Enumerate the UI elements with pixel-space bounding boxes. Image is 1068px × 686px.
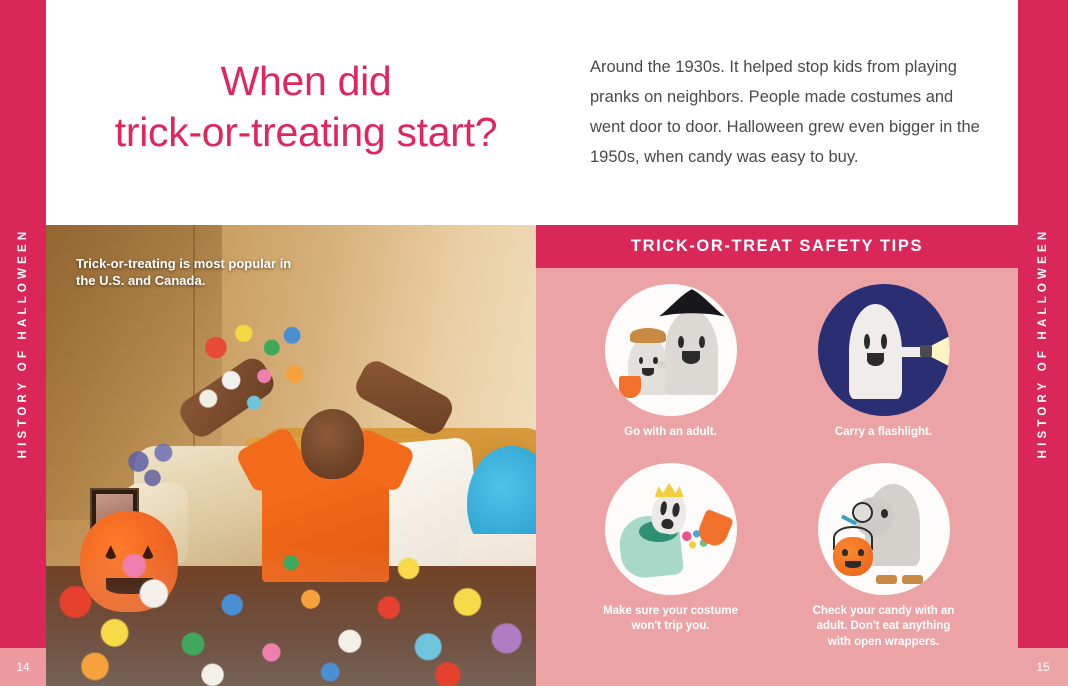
flashlight-beam xyxy=(930,332,950,372)
intro-body-text: Around the 1930s. It helped stop kids fr… xyxy=(590,52,984,172)
safety-tip-label: Check your candy with an adult. Don't ea… xyxy=(809,604,959,650)
costume-ghost-right-eye xyxy=(671,502,680,517)
ghost-mouth xyxy=(867,353,884,365)
safety-tip: Carry a flashlight. xyxy=(777,284,990,463)
ghost-left-shoe xyxy=(876,575,897,584)
photo-boy-head xyxy=(301,409,365,478)
costume-ghost-left-eye xyxy=(659,501,668,516)
pail-right-eye xyxy=(858,549,864,556)
safety-tip: Make sure your costume won't trip you. xyxy=(564,463,777,650)
headline-line-2: trick-or-treating start? xyxy=(56,107,556,158)
left-side-rail: HISTORY OF HALLOWEEN 14 xyxy=(0,0,46,686)
candy-pumpkin-pail xyxy=(833,537,873,577)
witch-hat-icon xyxy=(656,285,728,322)
ghost-right-shoe xyxy=(902,575,923,584)
right-rail-label: HISTORY OF HALLOWEEN xyxy=(1037,228,1049,459)
left-page-number: 14 xyxy=(0,648,46,686)
photo-tossed-candy xyxy=(193,317,320,418)
photo-candy-pile xyxy=(46,546,536,686)
ghost-hat-icon xyxy=(630,328,666,343)
photo-caption: Trick-or-treating is most popular in the… xyxy=(76,255,296,289)
tall-ghost-mouth xyxy=(682,351,700,364)
ghost-left-eye xyxy=(864,334,870,349)
tall-ghost-left-eye xyxy=(678,336,684,349)
safety-tip-label: Go with an adult. xyxy=(624,425,717,440)
flashlight-icon xyxy=(920,345,932,357)
safety-tip-label: Carry a flashlight. xyxy=(835,425,932,440)
safety-tip: Check your candy with an adult. Don't ea… xyxy=(777,463,990,650)
safety-tips-panel: TRICK-OR-TREAT SAFETY TIPS xyxy=(536,225,1018,686)
right-page-number: 15 xyxy=(1018,648,1068,686)
left-rail-label: HISTORY OF HALLOWEEN xyxy=(17,228,29,459)
costume-ghost-mouth xyxy=(661,518,675,530)
safety-tips-banner: TRICK-OR-TREAT SAFETY TIPS xyxy=(536,225,1018,268)
tall-ghost xyxy=(665,310,718,394)
two-ghosts-icon xyxy=(605,284,737,416)
inspecting-ghost-eye xyxy=(881,509,888,518)
intro-section: When did trick-or-treating start? Around… xyxy=(46,0,1018,225)
right-side-rail: HISTORY OF HALLOWEEN 15 xyxy=(1018,0,1068,686)
small-ghost-pumpkin-pail xyxy=(619,376,641,397)
safety-tips-grid: Go with an adult. Carry a flashlight. xyxy=(536,268,1018,656)
headline-line-1: When did xyxy=(56,56,556,107)
pail-mouth xyxy=(845,561,861,567)
crown-icon xyxy=(655,481,684,497)
ghost-costume-trip-icon xyxy=(605,463,737,595)
small-ghost-left-eye xyxy=(639,357,643,365)
pail-left-eye xyxy=(842,549,848,556)
ghost-magnifier-candy-icon xyxy=(818,463,950,595)
small-ghost-mouth xyxy=(642,368,654,376)
book-spread: HISTORY OF HALLOWEEN 14 When did trick-o… xyxy=(0,0,1068,686)
ghost-right-eye xyxy=(881,334,887,349)
halloween-photo: Trick-or-treating is most popular in the… xyxy=(46,225,536,686)
safety-tip: Go with an adult. xyxy=(564,284,777,463)
ghost-flashlight-icon xyxy=(818,284,950,416)
page-title: When did trick-or-treating start? xyxy=(56,56,556,158)
tall-ghost-right-eye xyxy=(699,336,705,349)
safety-tip-label: Make sure your costume won't trip you. xyxy=(596,604,746,635)
